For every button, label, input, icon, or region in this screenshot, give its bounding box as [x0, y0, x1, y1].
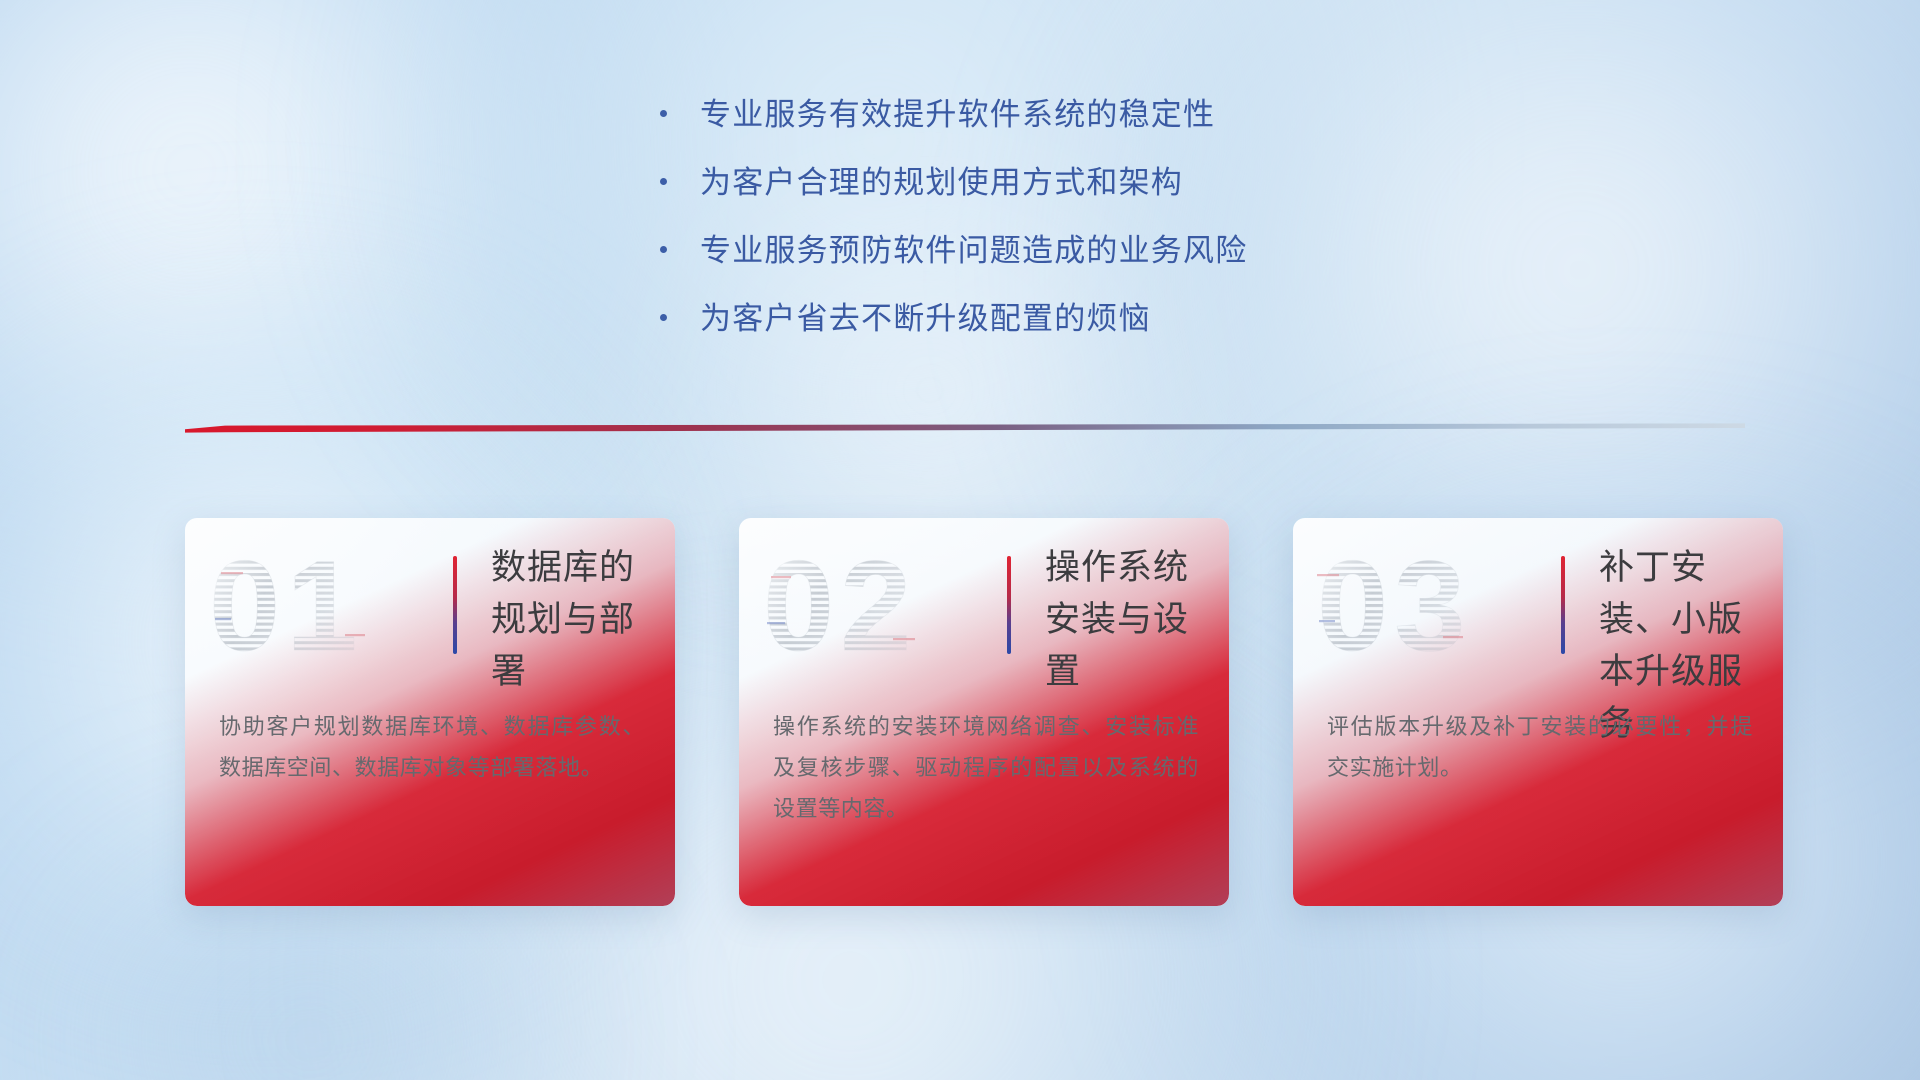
list-item: 专业服务有效提升软件系统的稳定性	[660, 92, 1420, 138]
bullet-text: 为客户省去不断升级配置的烦恼	[700, 296, 1151, 342]
service-card-03[interactable]: 03 03 补丁安装、小版本升级服务 评估版本升级及补丁安装的必要性，并提交实施…	[1293, 518, 1783, 906]
bullet-text: 专业服务有效提升软件系统的稳定性	[700, 92, 1215, 138]
bullet-dot-icon	[660, 178, 667, 185]
bullet-list: 专业服务有效提升软件系统的稳定性 为客户合理的规划使用方式和架构 专业服务预防软…	[660, 92, 1420, 364]
card-body-text: 协助客户规划数据库环境、数据库参数、数据库空间、数据库对象等部署落地。	[219, 706, 645, 788]
svg-text:01: 01	[209, 542, 363, 666]
watermark-number-03: 03 03	[1315, 542, 1545, 666]
bullet-text: 专业服务预防软件问题造成的业务风险	[700, 228, 1247, 274]
list-item: 为客户合理的规划使用方式和架构	[660, 160, 1420, 206]
section-divider	[185, 423, 1745, 437]
card-divider-bar	[453, 556, 457, 654]
svg-text:03: 03	[1317, 542, 1471, 666]
svg-text:02: 02	[763, 542, 917, 666]
list-item: 专业服务预防软件问题造成的业务风险	[660, 228, 1420, 274]
card-divider-bar	[1561, 556, 1565, 654]
card-row: 01 01 数据库的规划与部署 协助客户规划数据库环境、数据库参数、数据库空间、…	[185, 518, 1783, 906]
watermark-number-02: 02 02	[761, 542, 991, 666]
card-title: 数据库的规划与部署	[491, 542, 657, 698]
card-body-text: 操作系统的安装环境网络调查、安装标准及复核步骤、驱动程序的配置以及系统的设置等内…	[773, 706, 1199, 829]
bullet-dot-icon	[660, 110, 667, 117]
card-title: 操作系统安装与设置	[1045, 542, 1211, 698]
list-item: 为客户省去不断升级配置的烦恼	[660, 296, 1420, 342]
bullet-text: 为客户合理的规划使用方式和架构	[700, 160, 1183, 206]
service-card-01[interactable]: 01 01 数据库的规划与部署 协助客户规划数据库环境、数据库参数、数据库空间、…	[185, 518, 675, 906]
bullet-dot-icon	[660, 246, 667, 253]
bullet-dot-icon	[660, 314, 667, 321]
card-body-text: 评估版本升级及补丁安装的必要性，并提交实施计划。	[1327, 706, 1753, 788]
card-divider-bar	[1007, 556, 1011, 654]
service-card-02[interactable]: 02 02 操作系统安装与设置 操作系统的安装环境网络调查、安装标准及复核步骤、…	[739, 518, 1229, 906]
watermark-number-01: 01 01	[207, 542, 437, 666]
